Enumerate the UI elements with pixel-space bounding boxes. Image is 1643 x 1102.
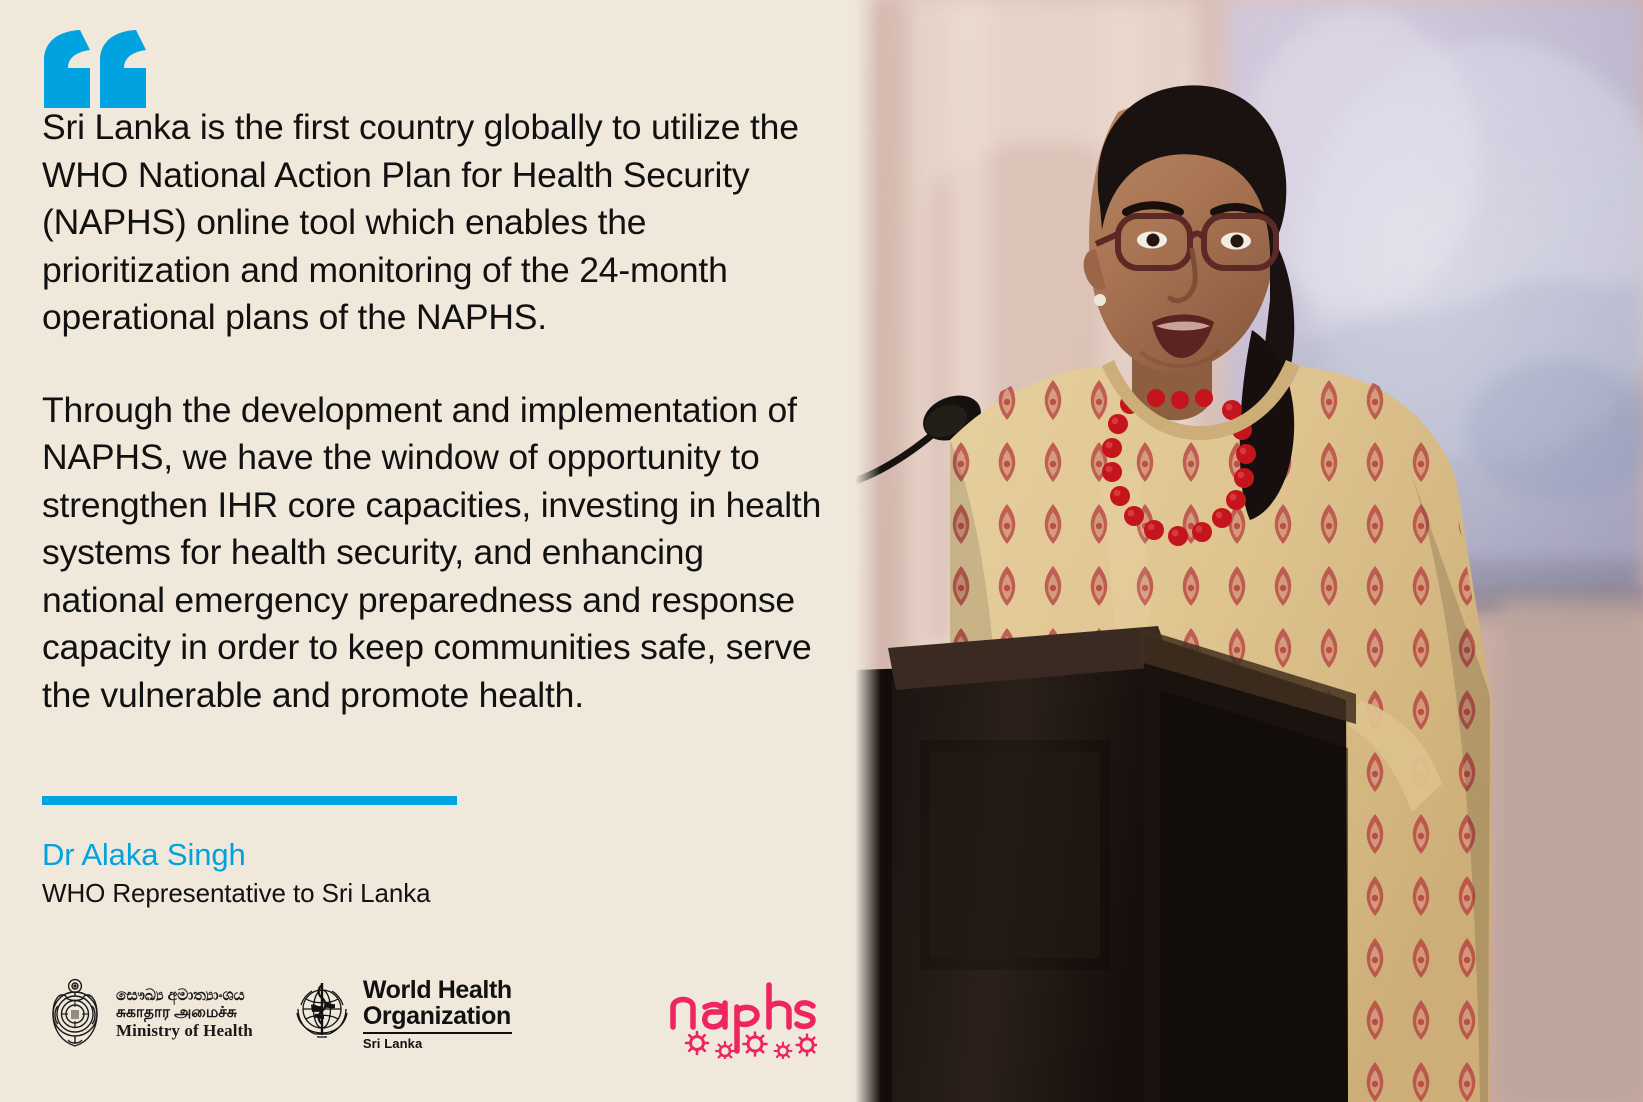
- accent-divider: [42, 796, 457, 805]
- speaker-at-podium-photo: [800, 0, 1643, 1102]
- attribution-name: Dr Alaka Singh: [42, 836, 742, 874]
- quote-card: Sri Lanka is the first country globally …: [0, 0, 1643, 1102]
- quote-panel: Sri Lanka is the first country globally …: [0, 0, 855, 1102]
- who-divider: [363, 1032, 512, 1034]
- who-emblem-icon: [291, 981, 353, 1048]
- who-text: World Health Organization Sri Lanka: [363, 977, 512, 1051]
- logo-strip: සෞඛ්‍ය අමාත්‍යාංශය சுகாதார அமைச்சு Minis…: [44, 975, 817, 1053]
- quote-text: Sri Lanka is the first country globally …: [42, 104, 832, 719]
- attribution: Dr Alaka Singh WHO Representative to Sri…: [42, 836, 742, 910]
- ministry-of-health-text: සෞඛ්‍ය අමාත්‍යාංශය சுகாதார அமைச்சு Minis…: [116, 988, 253, 1039]
- quote-paragraph-1: Sri Lanka is the first country globally …: [42, 104, 832, 342]
- who-logo: World Health Organization Sri Lanka: [291, 977, 512, 1051]
- who-line-1: World Health: [363, 977, 512, 1003]
- quote-paragraph-2: Through the development and implementati…: [42, 387, 832, 720]
- naphs-wordmark-icon: [667, 981, 817, 1059]
- sri-lanka-national-emblem-icon: [44, 976, 106, 1053]
- moh-tamil: சுகாதார அமைச்சு: [116, 1005, 253, 1021]
- moh-sinhala: සෞඛ්‍ය අමාත්‍යාංශය: [116, 988, 253, 1004]
- attribution-role: WHO Representative to Sri Lanka: [42, 876, 742, 910]
- naphs-logo: [667, 981, 817, 1059]
- double-quote-icon: [42, 30, 152, 108]
- ministry-of-health-logo: සෞඛ්‍ය අමාත්‍යාංශය சுகாதார அமைச்சு Minis…: [44, 976, 253, 1053]
- moh-english: Ministry of Health: [116, 1022, 253, 1040]
- who-line-2: Organization: [363, 1003, 512, 1029]
- who-country: Sri Lanka: [363, 1036, 512, 1051]
